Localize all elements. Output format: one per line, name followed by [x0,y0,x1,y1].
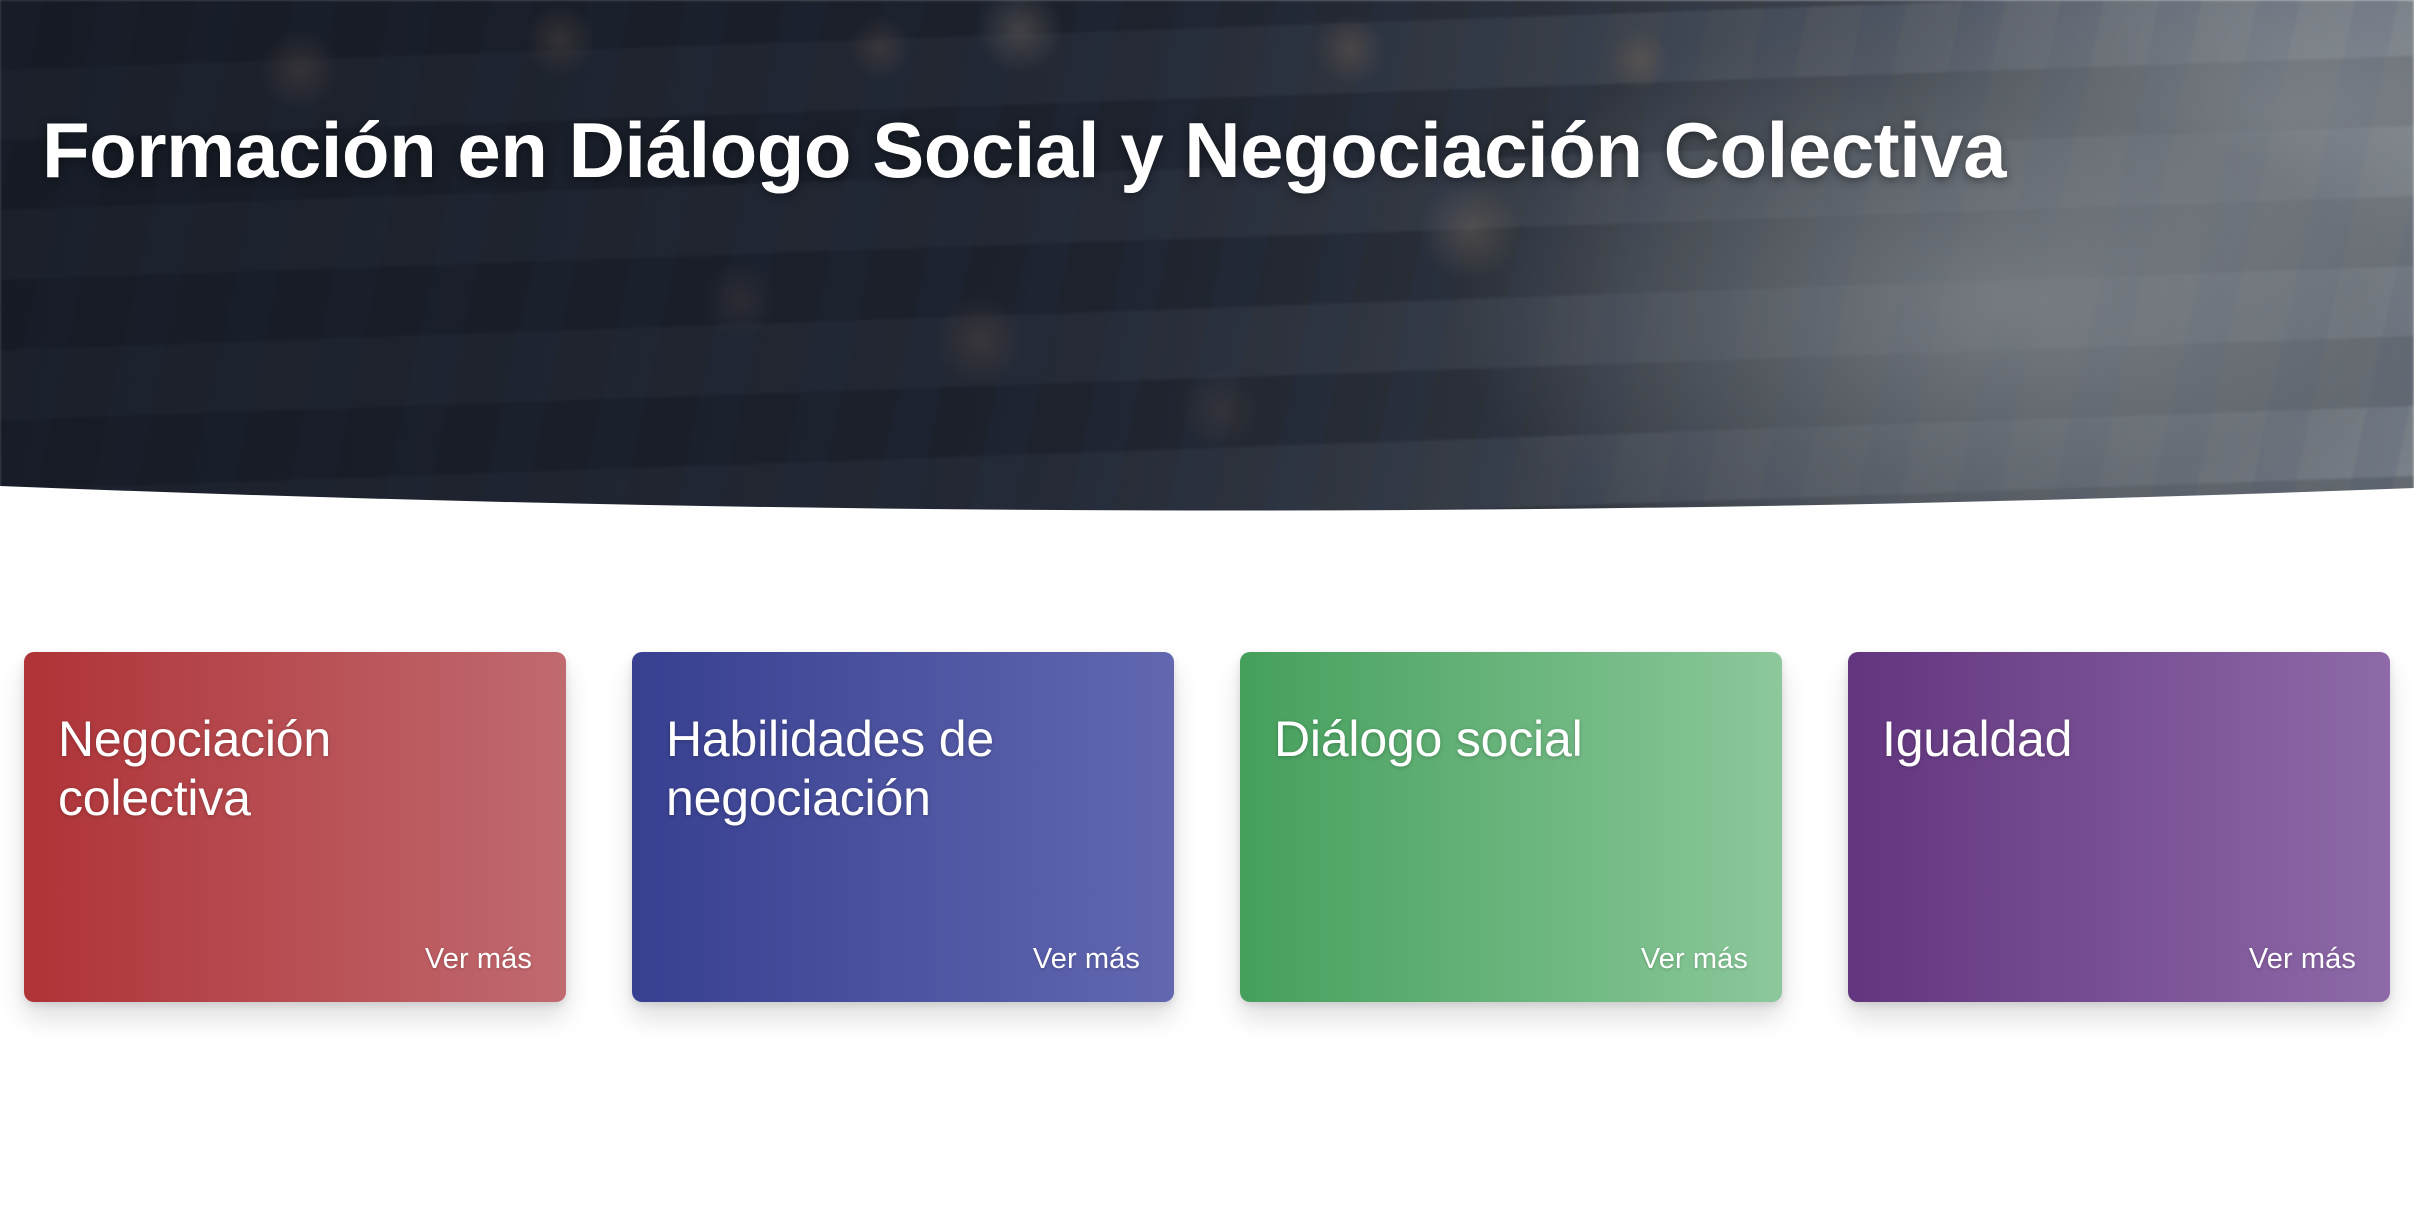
category-card-igualdad[interactable]: Igualdad Ver más [1848,652,2390,1002]
category-card-dialogo-social[interactable]: Diálogo social Ver más [1240,652,1782,1002]
card-title: Negociación colectiva [58,710,532,827]
hero-bottom-curve [0,464,2414,534]
card-ver-mas-link[interactable]: Ver más [1033,943,1140,976]
page-root: Formación en Diálogo Social y Negociació… [0,0,2414,1206]
category-card-habilidades-de-negociacion[interactable]: Habilidades de negociación Ver más [632,652,1174,1002]
hero-banner: Formación en Diálogo Social y Negociació… [0,0,2414,534]
category-card-grid: Negociación colectiva Ver más Habilidade… [0,652,2414,1002]
page-title: Formación en Diálogo Social y Negociació… [42,108,2102,192]
card-title: Habilidades de negociación [666,710,1140,827]
card-ver-mas-link[interactable]: Ver más [425,943,532,976]
card-title: Igualdad [1882,710,2356,769]
card-ver-mas-link[interactable]: Ver más [1641,943,1748,976]
hero-overlay-scrim [0,0,2414,534]
card-title: Diálogo social [1274,710,1748,769]
category-card-negociacion-colectiva[interactable]: Negociación colectiva Ver más [24,652,566,1002]
card-ver-mas-link[interactable]: Ver más [2249,943,2356,976]
